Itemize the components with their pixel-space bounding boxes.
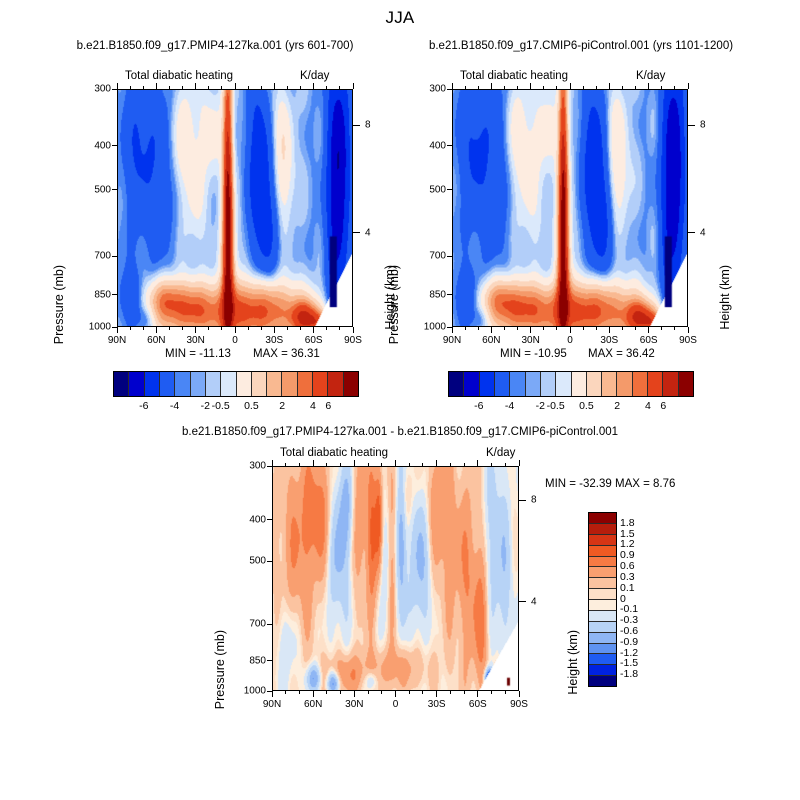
x-axis-top-tick-mark xyxy=(156,83,157,89)
colorbar-cell xyxy=(313,372,328,396)
y-axis-tick-mark xyxy=(112,294,118,295)
y-axis-tick-mark xyxy=(267,660,273,661)
panel-left-plot[interactable] xyxy=(117,89,353,327)
y-axis-tick-label: 400 xyxy=(412,140,446,151)
panel-diff-y2-axis-title: Height (km) xyxy=(566,630,580,695)
colorbar-cell xyxy=(587,372,602,396)
panel-right-max-label: MAX = 36.42 xyxy=(588,348,655,360)
colorbar-cell xyxy=(175,372,190,396)
x-axis-tick-mark xyxy=(235,327,236,333)
x-axis-top-tick-mark xyxy=(313,83,314,89)
colorbar-tick-label: -0.5 xyxy=(212,400,230,412)
x-axis-minor-tick-mark xyxy=(169,86,170,89)
colorbar-cell xyxy=(679,372,693,396)
x-axis-tick-label: 30N xyxy=(345,699,363,710)
x-axis-minor-tick-mark xyxy=(221,86,222,89)
colorbar-diff[interactable] xyxy=(588,512,617,687)
y2-axis-tick-label: 4 xyxy=(365,227,371,238)
y-axis-tick-label: 850 xyxy=(412,289,446,300)
x-axis-minor-tick-mark xyxy=(409,463,410,466)
y2-axis-tick-label: 4 xyxy=(531,596,537,607)
x-axis-minor-tick-mark xyxy=(248,327,249,330)
x-axis-top-tick-mark xyxy=(274,83,275,89)
colorbar-cell xyxy=(589,676,616,686)
colorbar-cell xyxy=(589,567,616,578)
x-axis-minor-tick-mark xyxy=(182,327,183,330)
colorbar-tick-label: 2 xyxy=(279,400,285,412)
page-title: JJA xyxy=(0,8,800,28)
x-axis-tick-mark xyxy=(519,691,520,697)
colorbar-cell xyxy=(589,535,616,546)
y2-axis-tick-label: 8 xyxy=(365,120,371,131)
colorbar-cell xyxy=(663,372,678,396)
x-axis-top-tick-mark xyxy=(688,83,689,89)
x-axis-tick-mark xyxy=(452,327,453,333)
x-axis-minor-tick-mark xyxy=(326,691,327,694)
x-axis-minor-tick-mark xyxy=(130,86,131,89)
x-axis-minor-tick-mark xyxy=(422,463,423,466)
y2-axis-tick-mark xyxy=(519,500,526,501)
x-axis-minor-tick-mark xyxy=(340,691,341,694)
colorbar-cell xyxy=(602,372,617,396)
x-axis-tick-label: 30N xyxy=(521,335,539,346)
colorbar-cell xyxy=(589,600,616,611)
x-axis-top-tick-mark xyxy=(530,83,531,89)
x-axis-minor-tick-mark xyxy=(143,327,144,330)
x-axis-minor-tick-mark xyxy=(143,86,144,89)
x-axis-minor-tick-mark xyxy=(478,327,479,330)
x-axis-tick-label: 60S xyxy=(305,335,323,346)
x-axis-minor-tick-mark xyxy=(285,691,286,694)
x-axis-top-tick-mark xyxy=(570,83,571,89)
x-axis-tick-label: 90S xyxy=(510,699,528,710)
colorbar-tick-label: -1.8 xyxy=(620,668,638,680)
x-axis-minor-tick-mark xyxy=(635,86,636,89)
panel-left-units-label: K/day xyxy=(300,70,329,82)
x-axis-tick-mark xyxy=(313,327,314,333)
colorbar-tick-label: -2 xyxy=(536,400,545,412)
x-axis-tick-label: 0 xyxy=(393,699,399,710)
y-axis-tick-label: 700 xyxy=(232,619,266,630)
x-axis-minor-tick-mark xyxy=(622,86,623,89)
colorbar-cell xyxy=(633,372,648,396)
x-axis-minor-tick-mark xyxy=(504,86,505,89)
colorbar-cell xyxy=(344,372,358,396)
panel-left-variable-label: Total diabatic heating xyxy=(125,70,233,82)
colorbar-cell xyxy=(589,644,616,655)
y2-axis-tick-mark xyxy=(688,125,695,126)
x-axis-minor-tick-mark xyxy=(583,86,584,89)
y-axis-tick-mark xyxy=(447,294,453,295)
x-axis-minor-tick-mark xyxy=(299,463,300,466)
colorbar-cell xyxy=(589,578,616,589)
colorbar-cell xyxy=(556,372,571,396)
x-axis-top-tick-mark xyxy=(272,460,273,466)
colorbar-tick-label: 6 xyxy=(660,400,666,412)
x-axis-minor-tick-mark xyxy=(261,327,262,330)
x-axis-tick-mark xyxy=(491,327,492,333)
x-axis-top-tick-mark xyxy=(195,83,196,89)
x-axis-minor-tick-mark xyxy=(517,327,518,330)
x-axis-minor-tick-mark xyxy=(221,327,222,330)
x-axis-top-tick-mark xyxy=(436,460,437,466)
y-axis-tick-mark xyxy=(447,145,453,146)
colorbar-cell xyxy=(589,524,616,535)
x-axis-tick-mark xyxy=(688,327,689,333)
colorbar-cell xyxy=(191,372,206,396)
x-axis-minor-tick-mark xyxy=(248,86,249,89)
x-axis-minor-tick-mark xyxy=(182,86,183,89)
x-axis-tick-label: 60S xyxy=(469,699,487,710)
x-axis-tick-mark xyxy=(648,327,649,333)
colorbar-tick-label: 0.5 xyxy=(244,400,259,412)
x-axis-tick-mark xyxy=(570,327,571,333)
x-axis-minor-tick-mark xyxy=(556,86,557,89)
panel-right-plot[interactable] xyxy=(452,89,688,327)
x-axis-tick-label: 90N xyxy=(443,335,461,346)
x-axis-minor-tick-mark xyxy=(635,327,636,330)
x-axis-top-tick-mark xyxy=(353,83,354,89)
y2-axis-tick-label: 8 xyxy=(531,495,537,506)
y-axis-tick-mark xyxy=(447,189,453,190)
x-axis-tick-label: 90N xyxy=(108,335,126,346)
x-axis-tick-label: 30N xyxy=(186,335,204,346)
colorbar-tick-label: 0.5 xyxy=(579,400,594,412)
x-axis-minor-tick-mark xyxy=(465,327,466,330)
y-axis-tick-label: 700 xyxy=(77,251,111,262)
x-axis-top-tick-mark xyxy=(648,83,649,89)
x-axis-minor-tick-mark xyxy=(326,327,327,330)
y-axis-tick-label: 300 xyxy=(77,84,111,95)
colorbar-tick-label: 2 xyxy=(614,400,620,412)
x-axis-minor-tick-mark xyxy=(409,691,410,694)
x-axis-tick-label: 60N xyxy=(304,699,322,710)
colorbar-cell xyxy=(526,372,541,396)
x-axis-tick-label: 90N xyxy=(263,699,281,710)
x-axis-tick-mark xyxy=(195,327,196,333)
x-axis-minor-tick-mark xyxy=(674,327,675,330)
x-axis-minor-tick-mark xyxy=(543,327,544,330)
y2-axis-tick-mark xyxy=(353,232,360,233)
y-axis-tick-label: 500 xyxy=(77,184,111,195)
x-axis-minor-tick-mark xyxy=(300,327,301,330)
panel-left-max-label: MAX = 36.31 xyxy=(253,348,320,360)
x-axis-minor-tick-mark xyxy=(661,327,662,330)
y-axis-tick-label: 400 xyxy=(232,514,266,525)
x-axis-tick-label: 30S xyxy=(265,335,283,346)
x-axis-top-tick-mark xyxy=(452,83,453,89)
x-axis-top-tick-mark xyxy=(519,460,520,466)
panel-diff-units-label: K/day xyxy=(486,447,515,459)
x-axis-minor-tick-mark xyxy=(596,327,597,330)
x-axis-minor-tick-mark xyxy=(208,327,209,330)
colorbar-cell xyxy=(449,372,464,396)
x-axis-minor-tick-mark xyxy=(130,327,131,330)
panel-diff-plot[interactable] xyxy=(272,466,519,691)
x-axis-minor-tick-mark xyxy=(450,463,451,466)
colorbar-tick-label: 4 xyxy=(310,400,316,412)
panel-right-y-axis-title: Pressure (mb) xyxy=(387,265,401,344)
colorbar-right[interactable] xyxy=(448,371,694,397)
colorbar-cell xyxy=(145,372,160,396)
colorbar-cell xyxy=(221,372,236,396)
panel-left-title: b.e21.B1850.f09_g17.PMIP4-127ka.001 (yrs… xyxy=(35,40,395,52)
y-axis-tick-label: 1000 xyxy=(232,686,266,697)
y-axis-tick-label: 500 xyxy=(232,556,266,567)
x-axis-minor-tick-mark xyxy=(368,463,369,466)
x-axis-minor-tick-mark xyxy=(261,86,262,89)
x-axis-minor-tick-mark xyxy=(326,86,327,89)
x-axis-tick-mark xyxy=(117,327,118,333)
x-axis-tick-mark xyxy=(477,691,478,697)
colorbar-cell xyxy=(589,546,616,557)
x-axis-minor-tick-mark xyxy=(300,86,301,89)
y-axis-tick-label: 300 xyxy=(232,461,266,472)
x-axis-tick-label: 0 xyxy=(232,335,238,346)
panel-right-y2-axis-title: Height (km) xyxy=(718,265,732,330)
colorbar-tick-label: -0.5 xyxy=(547,400,565,412)
x-axis-top-tick-mark xyxy=(395,460,396,466)
colorbar-tick-label: 4 xyxy=(645,400,651,412)
x-axis-top-tick-mark xyxy=(354,460,355,466)
x-axis-minor-tick-mark xyxy=(464,463,465,466)
x-axis-minor-tick-mark xyxy=(543,86,544,89)
x-axis-minor-tick-mark xyxy=(287,327,288,330)
x-axis-minor-tick-mark xyxy=(340,463,341,466)
panel-diff-variable-label: Total diabatic heating xyxy=(280,447,388,459)
colorbar-left[interactable] xyxy=(113,371,359,397)
y-axis-tick-mark xyxy=(447,256,453,257)
y-axis-tick-mark xyxy=(267,624,273,625)
colorbar-cell xyxy=(237,372,252,396)
colorbar-cell xyxy=(589,622,616,633)
panel-left-y-axis-title: Pressure (mb) xyxy=(52,265,66,344)
colorbar-cell xyxy=(589,665,616,676)
colorbar-cell xyxy=(252,372,267,396)
x-axis-minor-tick-mark xyxy=(505,691,506,694)
x-axis-minor-tick-mark xyxy=(504,327,505,330)
x-axis-minor-tick-mark xyxy=(517,86,518,89)
x-axis-minor-tick-mark xyxy=(464,691,465,694)
x-axis-top-tick-mark xyxy=(117,83,118,89)
x-axis-minor-tick-mark xyxy=(381,691,382,694)
y2-axis-tick-mark xyxy=(519,601,526,602)
x-axis-tick-label: 30S xyxy=(428,699,446,710)
x-axis-minor-tick-mark xyxy=(478,86,479,89)
x-axis-minor-tick-mark xyxy=(583,327,584,330)
x-axis-tick-mark xyxy=(353,327,354,333)
panel-diff-title: b.e21.B1850.f09_g17.PMIP4-127ka.001 - b.… xyxy=(100,426,700,438)
colorbar-cell xyxy=(648,372,663,396)
x-axis-minor-tick-mark xyxy=(299,691,300,694)
x-axis-top-tick-mark xyxy=(491,83,492,89)
colorbar-cell xyxy=(206,372,221,396)
y2-axis-tick-label: 8 xyxy=(700,120,706,131)
x-axis-tick-mark xyxy=(530,327,531,333)
colorbar-cell xyxy=(480,372,495,396)
x-axis-top-tick-mark xyxy=(477,460,478,466)
colorbar-cell xyxy=(160,372,175,396)
colorbar-cell xyxy=(589,557,616,568)
colorbar-cell xyxy=(589,589,616,600)
x-axis-minor-tick-mark xyxy=(169,327,170,330)
colorbar-cell xyxy=(495,372,510,396)
colorbar-cell xyxy=(589,654,616,665)
x-axis-minor-tick-mark xyxy=(339,327,340,330)
y-axis-tick-label: 400 xyxy=(77,140,111,151)
x-axis-tick-label: 30S xyxy=(600,335,618,346)
x-axis-minor-tick-mark xyxy=(556,327,557,330)
panel-diff-y-axis-title: Pressure (mb) xyxy=(213,630,227,709)
x-axis-minor-tick-mark xyxy=(285,463,286,466)
colorbar-cell xyxy=(267,372,282,396)
x-axis-minor-tick-mark xyxy=(287,86,288,89)
colorbar-cell xyxy=(589,611,616,622)
x-axis-minor-tick-mark xyxy=(465,86,466,89)
colorbar-cell xyxy=(617,372,632,396)
y-axis-tick-mark xyxy=(112,189,118,190)
y-axis-tick-label: 850 xyxy=(77,289,111,300)
y-axis-tick-mark xyxy=(112,256,118,257)
colorbar-cell xyxy=(464,372,479,396)
x-axis-minor-tick-mark xyxy=(339,86,340,89)
x-axis-minor-tick-mark xyxy=(661,86,662,89)
x-axis-tick-mark xyxy=(274,327,275,333)
x-axis-tick-mark xyxy=(156,327,157,333)
x-axis-minor-tick-mark xyxy=(674,86,675,89)
y-axis-tick-label: 1000 xyxy=(77,322,111,333)
y-axis-tick-label: 850 xyxy=(232,655,266,666)
x-axis-minor-tick-mark xyxy=(208,86,209,89)
panel-right-variable-label: Total diabatic heating xyxy=(460,70,568,82)
colorbar-tick-label: -4 xyxy=(170,400,179,412)
colorbar-tick-label: -2 xyxy=(201,400,210,412)
y2-axis-tick-label: 4 xyxy=(700,227,706,238)
y-axis-tick-mark xyxy=(112,145,118,146)
y-axis-tick-label: 300 xyxy=(412,84,446,95)
x-axis-tick-mark xyxy=(313,691,314,697)
x-axis-tick-mark xyxy=(272,691,273,697)
colorbar-tick-label: -6 xyxy=(474,400,483,412)
panel-right-min-label: MIN = -10.95 xyxy=(500,348,567,360)
x-axis-minor-tick-mark xyxy=(622,327,623,330)
y-axis-tick-label: 700 xyxy=(412,251,446,262)
x-axis-minor-tick-mark xyxy=(491,463,492,466)
x-axis-tick-label: 0 xyxy=(567,335,573,346)
x-axis-minor-tick-mark xyxy=(422,691,423,694)
x-axis-top-tick-mark xyxy=(609,83,610,89)
panel-left-contour-field xyxy=(118,90,352,326)
colorbar-cell xyxy=(589,633,616,644)
x-axis-top-tick-mark xyxy=(313,460,314,466)
colorbar-cell xyxy=(114,372,129,396)
colorbar-cell xyxy=(541,372,556,396)
panel-diff-minmax-label: MIN = -32.39 MAX = 8.76 xyxy=(545,478,675,490)
colorbar-tick-label: 6 xyxy=(325,400,331,412)
x-axis-minor-tick-mark xyxy=(596,86,597,89)
y2-axis-tick-mark xyxy=(353,125,360,126)
x-axis-tick-mark xyxy=(609,327,610,333)
x-axis-minor-tick-mark xyxy=(381,463,382,466)
x-axis-minor-tick-mark xyxy=(450,691,451,694)
y-axis-tick-mark xyxy=(267,561,273,562)
x-axis-tick-label: 60S xyxy=(640,335,658,346)
x-axis-minor-tick-mark xyxy=(505,463,506,466)
panel-diff-contour-field xyxy=(273,467,518,690)
y-axis-tick-label: 1000 xyxy=(412,322,446,333)
x-axis-minor-tick-mark xyxy=(491,691,492,694)
colorbar-cell xyxy=(298,372,313,396)
colorbar-tick-label: -4 xyxy=(505,400,514,412)
x-axis-tick-label: 90S xyxy=(679,335,697,346)
x-axis-tick-label: 60N xyxy=(482,335,500,346)
x-axis-tick-label: 90S xyxy=(344,335,362,346)
x-axis-top-tick-mark xyxy=(235,83,236,89)
y-axis-tick-mark xyxy=(267,519,273,520)
colorbar-cell xyxy=(129,372,144,396)
x-axis-tick-mark xyxy=(395,691,396,697)
y2-axis-tick-mark xyxy=(688,232,695,233)
colorbar-cell xyxy=(282,372,297,396)
panel-right-contour-field xyxy=(453,90,687,326)
x-axis-tick-label: 60N xyxy=(147,335,165,346)
x-axis-minor-tick-mark xyxy=(326,463,327,466)
colorbar-cell xyxy=(589,513,616,524)
colorbar-cell xyxy=(572,372,587,396)
colorbar-cell xyxy=(510,372,525,396)
x-axis-tick-mark xyxy=(436,691,437,697)
colorbar-tick-label: -6 xyxy=(139,400,148,412)
panel-right-title: b.e21.B1850.f09_g17.CMIP6-piControl.001 … xyxy=(395,40,767,52)
x-axis-minor-tick-mark xyxy=(368,691,369,694)
panel-right-units-label: K/day xyxy=(636,70,665,82)
colorbar-cell xyxy=(328,372,343,396)
y-axis-tick-label: 500 xyxy=(412,184,446,195)
panel-left-min-label: MIN = -11.13 xyxy=(165,348,231,360)
x-axis-tick-mark xyxy=(354,691,355,697)
